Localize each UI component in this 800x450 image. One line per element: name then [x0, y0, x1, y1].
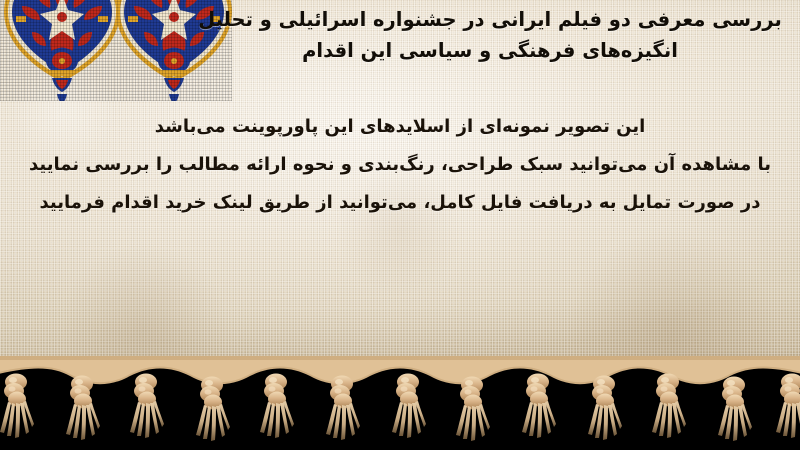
body-line-1: این تصویر نمونه‌ای از اسلایدهای این پاور…: [8, 108, 792, 146]
title-line-1: بررسی معرفی دو فیلم ایرانی در جشنواره اس…: [186, 4, 794, 35]
title-line-2: انگیزه‌های فرهنگی و سیاسی این اقدام: [186, 35, 794, 66]
body-line-2: با مشاهده آن می‌توانید سبک طراحی، رنگ‌بن…: [8, 146, 792, 184]
slide-text-layer: بررسی معرفی دو فیلم ایرانی در جشنواره اس…: [0, 0, 800, 372]
slide-body: این تصویر نمونه‌ای از اسلایدهای این پاور…: [8, 108, 792, 222]
slide-canvas: بررسی معرفی دو فیلم ایرانی در جشنواره اس…: [0, 0, 800, 450]
slide-title: بررسی معرفی دو فیلم ایرانی در جشنواره اس…: [186, 4, 794, 66]
body-line-3: در صورت تمایل به دریافت فایل کامل، می‌تو…: [8, 184, 792, 222]
